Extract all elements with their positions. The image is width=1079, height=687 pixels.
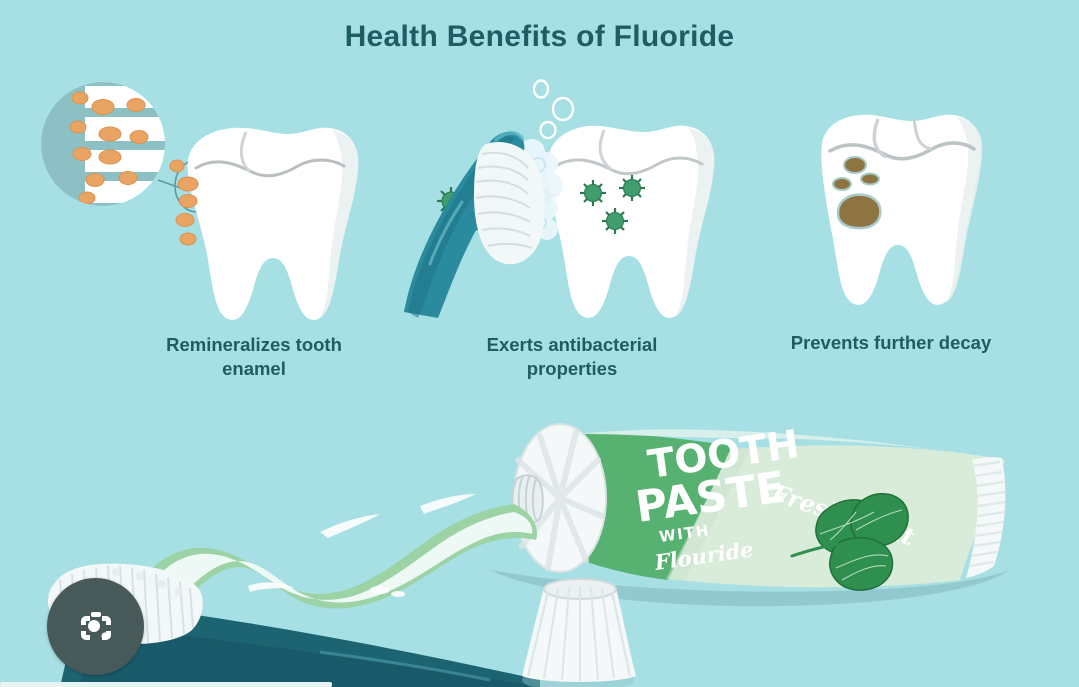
molar-tooth — [548, 126, 715, 318]
molar-tooth — [188, 128, 359, 320]
tube-shoulder — [512, 424, 606, 572]
enamel-magnifier — [41, 82, 177, 206]
benefit-caption-antibacterial: Exerts antibacterial properties — [436, 333, 708, 380]
hero-illustration-toothpaste: TOOTH PASTE WITH Flouride Fresh Mint — [20, 390, 1060, 687]
benefit-caption-remineralizes: Remineralizes tooth enamel — [118, 333, 390, 380]
caption-line-1: Remineralizes tooth — [118, 333, 390, 357]
bottom-edge-strip — [0, 682, 332, 687]
toothpaste-tube: TOOTH PASTE WITH Flouride Fresh Mint — [512, 422, 1005, 590]
page-title: Health Benefits of Fluoride — [0, 20, 1079, 54]
google-lens-button[interactable] — [47, 578, 144, 675]
caption-line-1: Exerts antibacterial — [436, 333, 708, 357]
toothbrush — [404, 132, 545, 318]
google-lens-camera-icon — [74, 605, 118, 649]
benefit-illustration-prevents-decay — [790, 95, 1025, 325]
benefit-illustration-antibacterial — [400, 68, 720, 320]
caption-line-2: properties — [436, 357, 708, 381]
infographic-canvas: Health Benefits of Fluoride — [0, 0, 1079, 687]
benefit-caption-prevents-decay: Prevents further decay — [755, 331, 1027, 355]
caption-line-2: enamel — [118, 357, 390, 381]
caption-line-1: Prevents further decay — [755, 331, 1027, 355]
foam-bubbles — [534, 81, 573, 139]
benefit-illustration-remineralizes — [40, 72, 380, 322]
